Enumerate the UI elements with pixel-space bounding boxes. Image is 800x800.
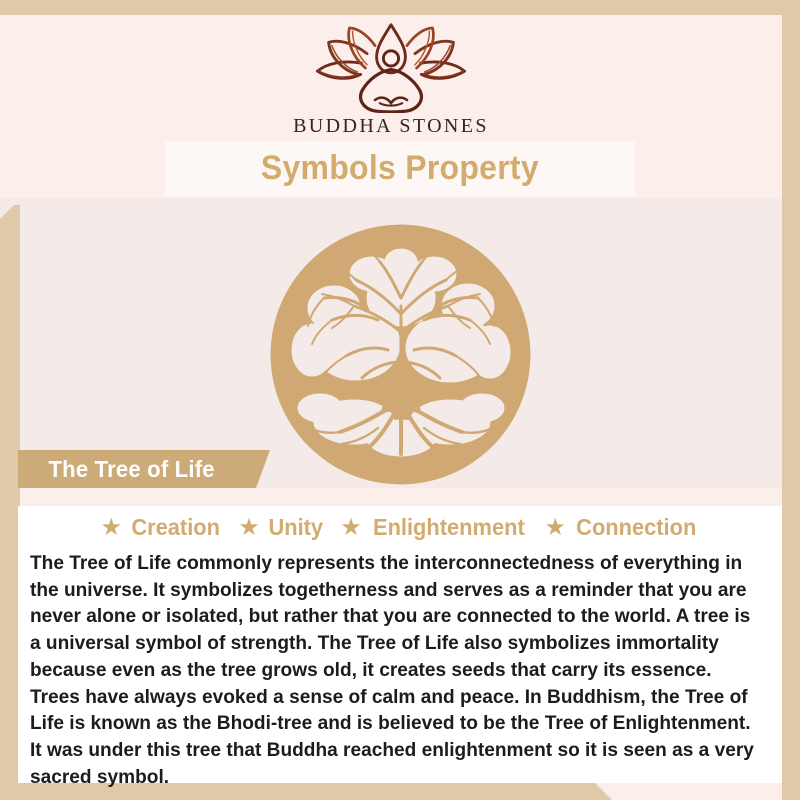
content-panel: ★ Creation ★ Unity ★ Enlightenment ★ Con… xyxy=(18,506,782,783)
tree-of-life-icon xyxy=(268,222,533,487)
brand-header: BUDDHA STONES xyxy=(0,15,782,141)
star-icon: ★ xyxy=(238,516,260,540)
section-title: The Tree of Life xyxy=(48,456,214,483)
keyword-label: Connection xyxy=(576,514,696,541)
keyword-label: Enlightenment xyxy=(373,514,525,541)
keyword-label: Unity xyxy=(268,514,323,541)
infographic-page: BUDDHA STONES Symbols Property xyxy=(0,0,800,800)
frame-band-right xyxy=(782,0,800,800)
keyword-item: ★ Connection xyxy=(545,514,700,541)
section-ribbon: The Tree of Life xyxy=(18,450,270,488)
page-title: Symbols Property xyxy=(261,149,539,188)
keyword-list: ★ Creation ★ Unity ★ Enlightenment ★ Con… xyxy=(18,506,782,541)
keyword-item: ★ Unity xyxy=(238,514,324,541)
body-paragraph: The Tree of Life commonly represents the… xyxy=(30,550,759,790)
keyword-item: ★ Enlightenment xyxy=(340,514,528,541)
star-icon: ★ xyxy=(100,516,122,540)
title-banner: Symbols Property xyxy=(165,141,635,196)
brand-name: BUDDHA STONES xyxy=(293,115,489,138)
star-icon: ★ xyxy=(545,516,567,540)
frame-band-left xyxy=(0,205,20,800)
lotus-meditation-icon xyxy=(311,23,471,113)
star-icon: ★ xyxy=(340,516,362,540)
keyword-label: Creation xyxy=(131,514,220,541)
frame-band-top xyxy=(0,0,800,15)
keyword-item: ★ Creation xyxy=(100,514,222,541)
